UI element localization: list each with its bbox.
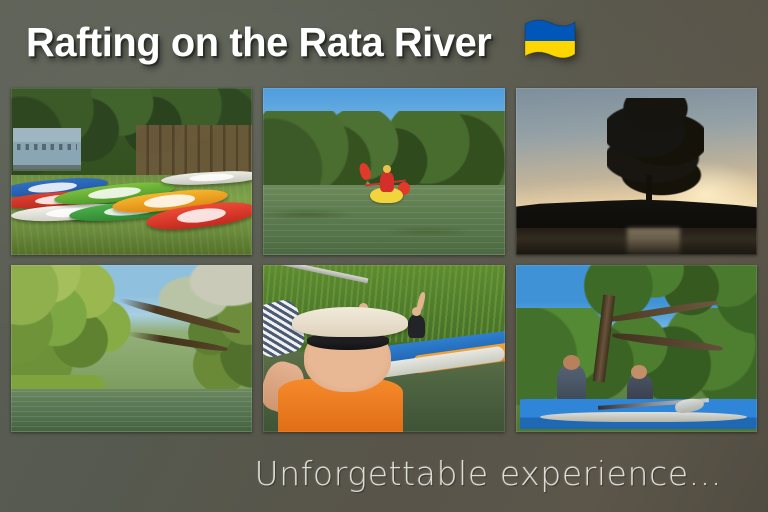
photo-scene (516, 88, 757, 255)
kayaker-body (380, 172, 393, 192)
male-paddler-head (563, 355, 580, 370)
photo-scene (263, 88, 504, 255)
gallery-photo-sunset-tree[interactable] (516, 88, 757, 255)
poster-footer: Unforgettable experience... (0, 436, 768, 512)
tree-silhouette (607, 98, 704, 202)
travel-poster: Rafting on the Rata River (0, 0, 768, 512)
gallery-photo-kayaks-on-grass[interactable] (11, 88, 252, 255)
water-layer (11, 389, 252, 432)
kayak-deck (540, 412, 748, 422)
photo-scene (263, 265, 504, 432)
page-title: Rafting on the Rata River (26, 20, 491, 64)
photo-scene (516, 265, 757, 432)
poster-header: Rafting on the Rata River (0, 0, 768, 84)
photo-gallery-grid (11, 88, 757, 432)
gallery-photo-couple-in-blue-kayak[interactable] (516, 265, 757, 432)
sun-hat (292, 307, 408, 337)
photo-scene (11, 265, 252, 432)
cabin-shape (13, 128, 81, 171)
gallery-photo-willow-riverbank[interactable] (11, 265, 252, 432)
poster-caption: Unforgettable experience... (254, 455, 722, 493)
ukraine-flag-icon (522, 18, 578, 64)
wooden-fence-shape (136, 125, 252, 175)
background-kayaker-body (408, 315, 425, 338)
water-reflection (627, 228, 680, 255)
photo-scene (11, 88, 252, 255)
gallery-photo-kayaker-selfie[interactable] (263, 265, 504, 432)
gallery-photo-kayaker-on-river[interactable] (263, 88, 504, 255)
